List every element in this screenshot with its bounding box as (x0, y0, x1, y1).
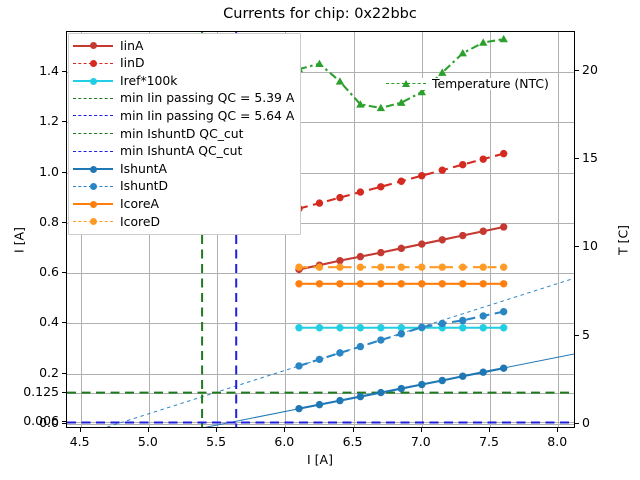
data-point (316, 263, 323, 270)
series-line (299, 312, 504, 366)
legend-key (73, 40, 113, 52)
legend-label: IshuntA (120, 163, 167, 175)
y2-tick-label: 0 (582, 415, 590, 430)
legend-key (73, 128, 113, 140)
legend-key (73, 57, 113, 69)
legend-item[interactable]: min IshuntA QC_cut (73, 143, 294, 161)
y-tick-label: 0.006 (0, 413, 59, 428)
data-point (398, 263, 405, 270)
legend-label: min Iin passing QC = 5.64 A (120, 110, 294, 122)
data-point (418, 240, 425, 247)
data-point (398, 385, 405, 392)
data-point (500, 324, 507, 331)
data-point (377, 336, 384, 343)
legend-item[interactable]: IshuntD (73, 178, 294, 196)
legend-key (73, 198, 113, 210)
data-point (336, 324, 343, 331)
data-point (480, 280, 487, 287)
series-line (299, 39, 504, 108)
data-point (315, 60, 323, 67)
x-tick (489, 428, 490, 432)
data-point (500, 364, 507, 371)
data-point (459, 232, 466, 239)
data-point (336, 263, 343, 270)
legend-inline-temperature: Temperature (NTC) (386, 78, 549, 90)
y2-axis-title: T [C] (615, 225, 630, 255)
data-point (377, 249, 384, 256)
data-point (418, 263, 425, 270)
x-tick-label: 7.5 (473, 434, 505, 449)
legend-item[interactable]: IinD (73, 55, 294, 73)
x-tick-label: 7.0 (405, 434, 437, 449)
data-point (398, 245, 405, 252)
data-point (418, 172, 425, 179)
x-tick (353, 428, 354, 432)
data-point (377, 324, 384, 331)
data-point (459, 324, 466, 331)
data-point (295, 280, 302, 287)
legend-item[interactable]: IinA (73, 37, 294, 55)
data-point (336, 77, 344, 84)
data-point (357, 263, 364, 270)
data-point (480, 155, 487, 162)
data-point (316, 280, 323, 287)
y2-tick (575, 335, 579, 336)
data-point (398, 330, 405, 337)
data-point (357, 324, 364, 331)
legend-key (73, 93, 113, 105)
legend-label: Iref*100k (120, 75, 177, 87)
chart-title: Currents for chip: 0x22bbc (0, 6, 640, 22)
legend-item[interactable]: Iref*100k (73, 72, 294, 90)
data-point (357, 253, 364, 260)
x-tick-label: 6.5 (337, 434, 369, 449)
legend-line-swatch (73, 98, 113, 99)
y-axis-title: I [A] (11, 227, 26, 253)
data-point (480, 228, 487, 235)
data-point (459, 161, 466, 168)
data-point (439, 236, 446, 243)
y-tick-label: 0.8 (0, 214, 59, 229)
legend-key (73, 145, 113, 157)
y2-tick (575, 423, 579, 424)
fit-line (67, 354, 575, 428)
y-tick-label: 1.2 (0, 113, 59, 128)
data-point (500, 280, 507, 287)
data-point (439, 166, 446, 173)
x-tick (80, 428, 81, 432)
x-tick (284, 428, 285, 432)
x-tick-label: 5.0 (132, 434, 164, 449)
data-point (316, 356, 323, 363)
data-point (398, 178, 405, 185)
data-point (459, 49, 467, 56)
data-point (459, 373, 466, 380)
data-point (418, 324, 425, 331)
data-point (336, 349, 343, 356)
data-point (480, 263, 487, 270)
legend-item[interactable]: min IshuntD QC_cut (73, 125, 294, 143)
data-point (439, 320, 446, 327)
x-tick-label: 6.0 (268, 434, 300, 449)
legend-line-swatch (73, 151, 113, 152)
legend-key (73, 163, 113, 175)
data-point (295, 324, 302, 331)
legend-item[interactable]: IcoreD (73, 213, 294, 231)
data-point (377, 183, 384, 190)
y-tick-label: 1.0 (0, 164, 59, 179)
legend-marker (90, 166, 97, 173)
data-point (336, 194, 343, 201)
y-tick-label: 0.125 (0, 384, 59, 399)
legend-marker (90, 183, 97, 190)
data-point (500, 263, 507, 270)
legend-marker (90, 60, 97, 67)
legend-label: IcoreD (120, 216, 160, 228)
data-point (357, 188, 364, 195)
data-point (418, 280, 425, 287)
legend-key (73, 110, 113, 122)
legend-label: IcoreA (120, 198, 159, 210)
data-point (316, 324, 323, 331)
data-point (377, 263, 384, 270)
legend-label: min IshuntA QC_cut (120, 145, 242, 157)
legend-marker (90, 218, 97, 225)
data-point (459, 317, 466, 324)
data-point (418, 381, 425, 388)
data-point (357, 343, 364, 350)
y2-tick-label: 10 (582, 238, 598, 253)
data-point (500, 150, 507, 157)
y2-tick (575, 70, 579, 71)
x-tick (148, 428, 149, 432)
x-tick (557, 428, 558, 432)
y-tick-label: 0.6 (0, 264, 59, 279)
x-tick-label: 4.5 (64, 434, 96, 449)
y-tick-label: 0.4 (0, 314, 59, 329)
x-tick-label: 5.5 (200, 434, 232, 449)
data-point (480, 324, 487, 331)
data-point (439, 377, 446, 384)
legend-label: IinD (120, 57, 145, 69)
data-point (480, 312, 487, 319)
data-point (316, 401, 323, 408)
data-point (500, 308, 507, 315)
figure: Currents for chip: 0x22bbc I [A] T [C] I… (0, 0, 640, 480)
data-point (377, 104, 385, 111)
legend-item[interactable]: IshuntA (73, 160, 294, 178)
legend-label: min IshuntD QC_cut (120, 128, 243, 140)
data-point (480, 369, 487, 376)
x-tick (216, 428, 217, 432)
data-point (336, 257, 343, 264)
data-point (439, 280, 446, 287)
x-tick-label: 8.0 (541, 434, 573, 449)
data-point (479, 38, 487, 45)
legend-key (73, 181, 113, 193)
legend-item[interactable]: min Iin passing QC = 5.39 A (73, 90, 294, 108)
data-point (398, 280, 405, 287)
data-point (357, 393, 364, 400)
data-point (295, 263, 302, 270)
y2-tick-label: 15 (582, 150, 598, 165)
legend-marker (90, 78, 97, 85)
data-point (459, 263, 466, 270)
data-point (316, 199, 323, 206)
temperature-legend-label: Temperature (NTC) (432, 78, 549, 90)
legend-key (73, 75, 113, 87)
legend-key (73, 216, 113, 228)
y2-tick (575, 158, 579, 159)
data-point (357, 280, 364, 287)
legend-label: IinA (120, 40, 143, 52)
temperature-legend-key (386, 78, 426, 90)
data-point (459, 280, 466, 287)
x-tick (421, 428, 422, 432)
legend-label: IshuntD (120, 180, 168, 192)
y2-tick-label: 20 (582, 62, 598, 77)
legend-line-swatch (73, 115, 113, 116)
data-point (336, 397, 343, 404)
legend-marker (90, 42, 97, 49)
legend-item[interactable]: min Iin passing QC = 5.64 A (73, 107, 294, 125)
legend: IinAIinDIref*100kmin Iin passing QC = 5.… (68, 33, 301, 235)
legend-marker (90, 201, 97, 208)
data-point (377, 389, 384, 396)
data-point (439, 263, 446, 270)
legend-label: min Iin passing QC = 5.39 A (120, 92, 294, 104)
y-tick-label: 0.2 (0, 365, 59, 380)
data-point (295, 405, 302, 412)
legend-line-swatch (73, 133, 113, 134)
legend-item[interactable]: IcoreA (73, 195, 294, 213)
data-point (295, 362, 302, 369)
y-tick-label: 1.4 (0, 63, 59, 78)
x-axis-title: I [A] (0, 452, 640, 467)
y2-tick-label: 5 (582, 327, 590, 342)
data-point (336, 280, 343, 287)
y2-tick (575, 246, 579, 247)
data-point (377, 280, 384, 287)
data-point (500, 223, 507, 230)
